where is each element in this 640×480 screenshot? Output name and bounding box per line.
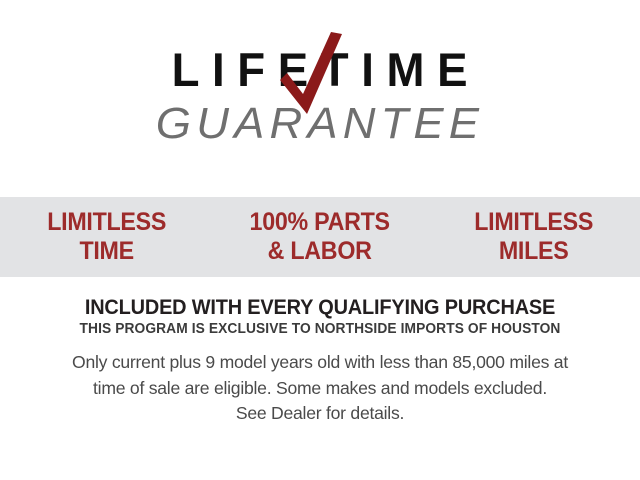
- benefits-band: LIMITLESS TIME 100% PARTS & LABOR LIMITL…: [0, 197, 640, 277]
- benefit-column-parts-labor: 100% PARTS & LABOR: [221, 208, 419, 266]
- headline-text: INCLUDED WITH EVERY QUALIFYING PURCHASE: [16, 297, 624, 318]
- logo-lifetime-text: LIFETIME: [159, 46, 480, 93]
- logo-guarantee-text: GUARANTEE: [0, 102, 640, 146]
- logo-lockup: LIFETIME: [154, 46, 485, 93]
- fineprint-line-2: time of sale are eligible. Some makes an…: [22, 376, 618, 402]
- benefit-line-1: LIMITLESS: [47, 208, 166, 236]
- benefit-line-1: 100% PARTS: [250, 208, 390, 236]
- fineprint-line-3: See Dealer for details.: [22, 401, 618, 427]
- logo-block: LIFETIME GUARANTEE: [0, 46, 640, 146]
- subheadline-text: THIS PROGRAM IS EXCLUSIVE TO NORTHSIDE I…: [16, 322, 624, 337]
- benefit-column-miles: LIMITLESS MILES: [434, 208, 632, 266]
- lifetime-guarantee-ad: LIFETIME GUARANTEE LIMITLESS TIME 100% P…: [0, 0, 640, 480]
- benefit-line-1: LIMITLESS: [474, 208, 593, 236]
- fineprint-line-1: Only current plus 9 model years old with…: [22, 350, 618, 376]
- fineprint-block: Only current plus 9 model years old with…: [22, 350, 618, 427]
- benefit-line-2: TIME: [7, 237, 205, 266]
- benefit-line-2: & LABOR: [221, 237, 419, 266]
- benefit-line-2: MILES: [434, 237, 632, 266]
- benefit-column-time: LIMITLESS TIME: [7, 208, 205, 266]
